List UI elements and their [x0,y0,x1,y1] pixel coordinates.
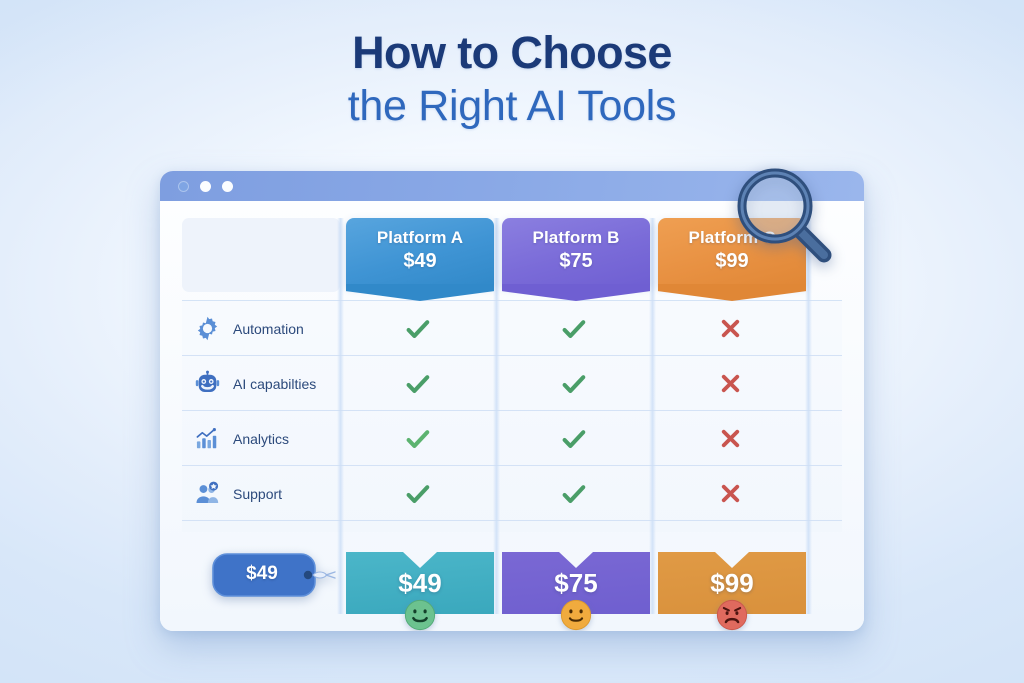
gear-icon [192,314,222,344]
feature-mark-a [340,369,496,399]
ribbon-tail-left [502,284,576,301]
platform-header-a[interactable]: Platform A $49 [346,218,494,286]
ribbon-tail-left [346,284,420,301]
feature-label-analytics: Analytics [182,424,340,454]
window-dot-3-icon[interactable] [222,181,233,192]
comparison-table: Platform A $49 Platform B $75 Platform C… [182,218,842,614]
feature-mark-b [496,314,652,344]
feature-mark-b [496,424,652,454]
bar-chart-icon [192,424,222,454]
platform-name-a: Platform A [346,218,494,248]
platform-price-a: $49 [346,248,494,273]
feature-name: Support [233,486,282,502]
ribbon-tail-right [732,284,806,301]
price-tag-value: $49 [212,553,312,595]
footer-price-b[interactable]: $75 [502,552,650,614]
footer-price-value-a: $49 [398,568,441,599]
footer-price-c[interactable]: $99 [658,552,806,614]
platform-price-b: $75 [502,248,650,273]
feature-mark-a [340,424,496,454]
feature-name: Analytics [233,431,289,447]
feature-mark-c [652,370,808,397]
support-icon [192,479,222,509]
robot-icon [192,369,222,399]
feature-name: AI capabilties [233,376,316,392]
feature-mark-a [340,314,496,344]
price-bar-notch [715,552,749,568]
frowning-face-icon [715,598,749,631]
page-title: How to Choose the Right AI Tools [0,26,1024,135]
table-corner-cell [182,218,340,292]
title-line-1: How to Choose [0,26,1024,79]
feature-mark-b [496,369,652,399]
feature-label-automation: Automation [182,314,340,344]
platform-header-b[interactable]: Platform B $75 [502,218,650,286]
title-line-2: the Right AI Tools [0,79,1024,135]
neutral-face-icon [559,598,593,631]
price-bar-notch [559,552,593,568]
ribbon-tail-right [576,284,650,301]
table-row: Analytics [182,411,842,466]
footer-price-value-b: $75 [554,568,597,599]
window-dot-2-icon[interactable] [200,181,211,192]
platform-name-b: Platform B [502,218,650,248]
price-tag-badge[interactable]: $49 [212,553,340,602]
ribbon-tail-right [420,284,494,301]
footer-price-a[interactable]: $49 [346,552,494,614]
feature-name: Automation [233,321,304,337]
feature-mark-c [652,315,808,342]
feature-mark-b [496,479,652,509]
magnifying-glass-icon [727,162,837,272]
feature-mark-c [652,425,808,452]
window-dot-1-icon[interactable] [178,181,189,192]
feature-label-support: Support [182,479,340,509]
feature-mark-a [340,479,496,509]
footer-price-value-c: $99 [710,568,753,599]
smiling-face-icon [403,598,437,631]
table-row: Support [182,466,842,521]
feature-label-ai-capabilities: AI capabilties [182,369,340,399]
table-row: Automation [182,301,842,356]
feature-mark-c [652,480,808,507]
price-bar-notch [403,552,437,568]
ribbon-tail-left [658,284,732,301]
table-row: AI capabilties [182,356,842,411]
